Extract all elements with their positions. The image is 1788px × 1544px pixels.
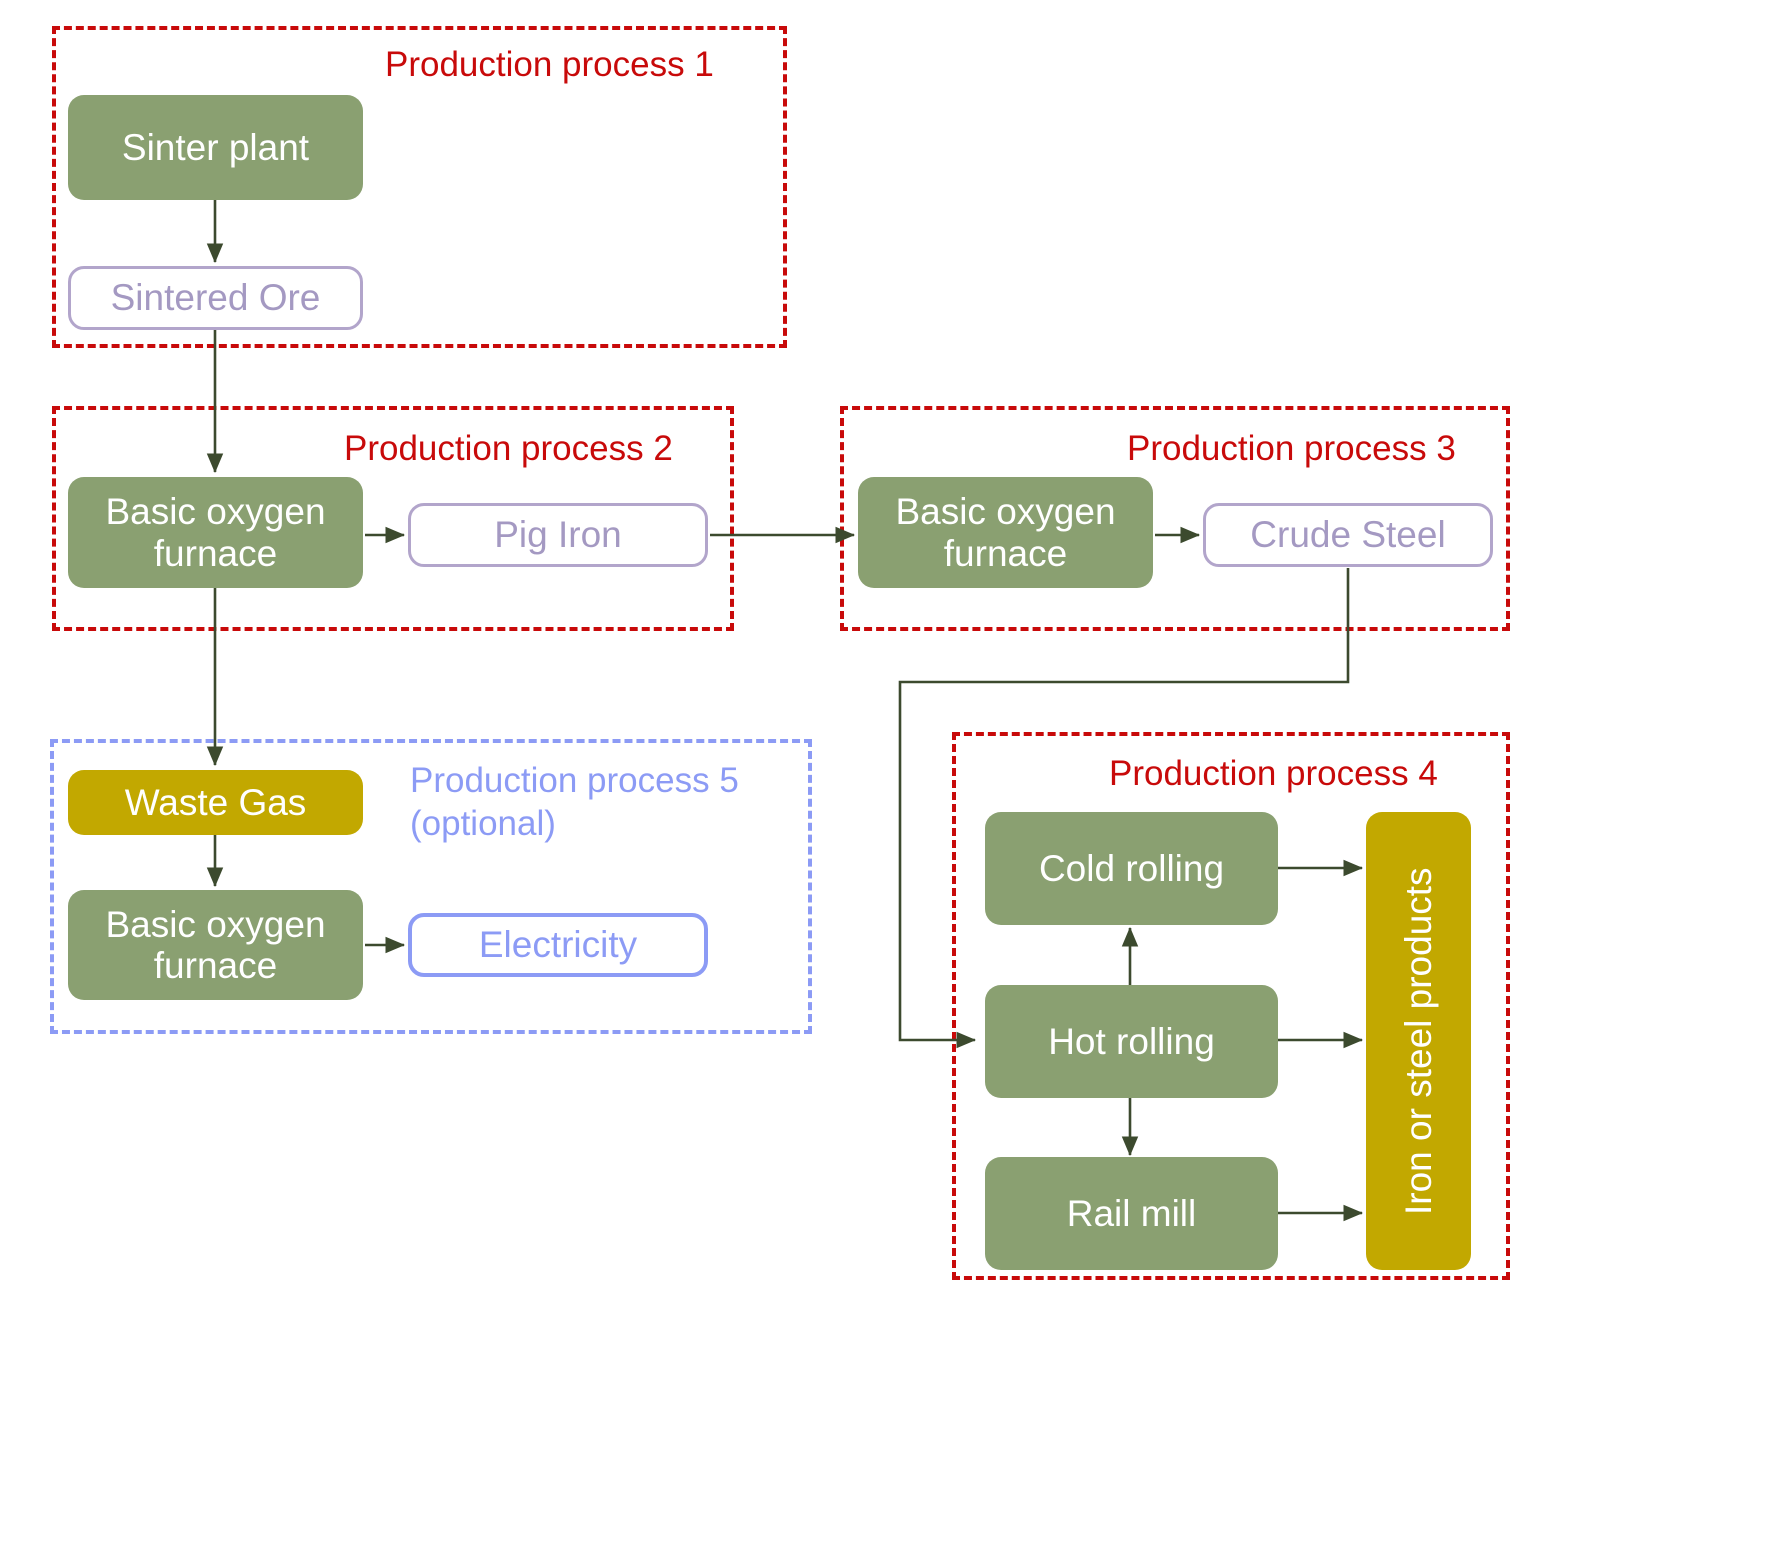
node-pig-iron[interactable]: Pig Iron [408, 503, 708, 567]
node-waste-gas[interactable]: Waste Gas [68, 770, 363, 835]
group-label-production-process-2: Production process 2 [344, 428, 673, 469]
node-sinter-plant[interactable]: Sinter plant [68, 95, 363, 200]
group-label-production-process-1: Production process 1 [385, 44, 714, 85]
group-label-production-process-5: Production process 5 [410, 760, 739, 801]
group-sublabel-production-process-5: (optional) [410, 803, 556, 844]
node-basic-oxygen-furnace-3[interactable]: Basic oxygen furnace [858, 477, 1153, 588]
node-basic-oxygen-furnace-2[interactable]: Basic oxygen furnace [68, 477, 363, 588]
diagram-canvas: Production process 1 Production process … [0, 0, 1788, 1544]
node-iron-or-steel-products[interactable]: Iron or steel products [1366, 812, 1471, 1270]
node-cold-rolling[interactable]: Cold rolling [985, 812, 1278, 925]
group-label-production-process-3: Production process 3 [1127, 428, 1456, 469]
node-crude-steel[interactable]: Crude Steel [1203, 503, 1493, 567]
node-basic-oxygen-furnace-5[interactable]: Basic oxygen furnace [68, 890, 363, 1000]
group-label-production-process-4: Production process 4 [1109, 753, 1438, 794]
node-electricity[interactable]: Electricity [408, 913, 708, 977]
node-sintered-ore[interactable]: Sintered Ore [68, 266, 363, 330]
node-hot-rolling[interactable]: Hot rolling [985, 985, 1278, 1098]
node-rail-mill[interactable]: Rail mill [985, 1157, 1278, 1270]
